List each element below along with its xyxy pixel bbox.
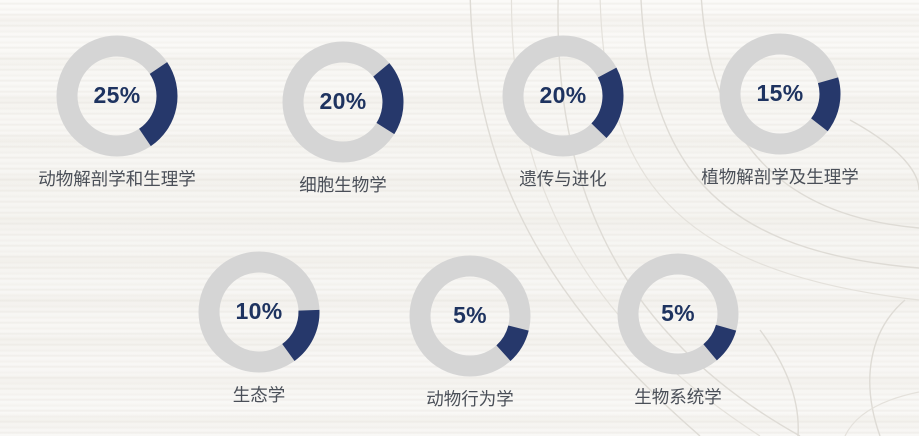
donut-category-label: 细胞生物学: [258, 175, 428, 196]
donut-category-label: 生态学: [174, 385, 344, 406]
donut-chart: 5%: [612, 248, 744, 380]
donut-category-label: 植物解剖学及生理学: [695, 167, 865, 188]
donut-value-arc: [503, 328, 518, 353]
donut-cell-biology[interactable]: 20%细胞生物学: [258, 36, 428, 196]
donut-value-label: 10%: [193, 300, 325, 323]
donut-ecology[interactable]: 10%生态学: [174, 246, 344, 406]
donut-chart: 5%: [404, 250, 536, 382]
infographic-canvas: 25%动物解剖学和生理学20%细胞生物学20%遗传与进化15%植物解剖学及生理学…: [0, 0, 919, 436]
donut-category-label: 生物系统学: [593, 387, 763, 408]
donut-chart: 15%: [714, 28, 846, 160]
donut-category-label: 遗传与进化: [478, 169, 648, 190]
donut-value-label: 20%: [277, 90, 409, 113]
donut-plant-anatomy-physiology[interactable]: 15%植物解剖学及生理学: [695, 28, 865, 188]
donut-chart: 25%: [51, 30, 183, 162]
donut-chart: 10%: [193, 246, 325, 378]
donut-value-label: 20%: [497, 84, 629, 107]
donut-chart: 20%: [497, 30, 629, 162]
donut-value-arc: [710, 328, 726, 353]
donut-category-label: 动物解剖学和生理学: [32, 169, 202, 190]
donut-value-label: 5%: [404, 304, 536, 327]
donut-animal-behavior[interactable]: 5%动物行为学: [385, 250, 555, 410]
donut-genetics-evolution[interactable]: 20%遗传与进化: [478, 30, 648, 190]
donut-value-label: 5%: [612, 302, 744, 325]
donut-chart: 20%: [277, 36, 409, 168]
donut-animal-anatomy-physiology[interactable]: 25%动物解剖学和生理学: [32, 30, 202, 190]
donut-value-label: 25%: [51, 84, 183, 107]
donut-value-label: 15%: [714, 82, 846, 105]
donut-biological-systematics[interactable]: 5%生物系统学: [593, 248, 763, 408]
donut-category-label: 动物行为学: [385, 389, 555, 410]
donut-grid: 25%动物解剖学和生理学20%细胞生物学20%遗传与进化15%植物解剖学及生理学…: [0, 0, 919, 436]
